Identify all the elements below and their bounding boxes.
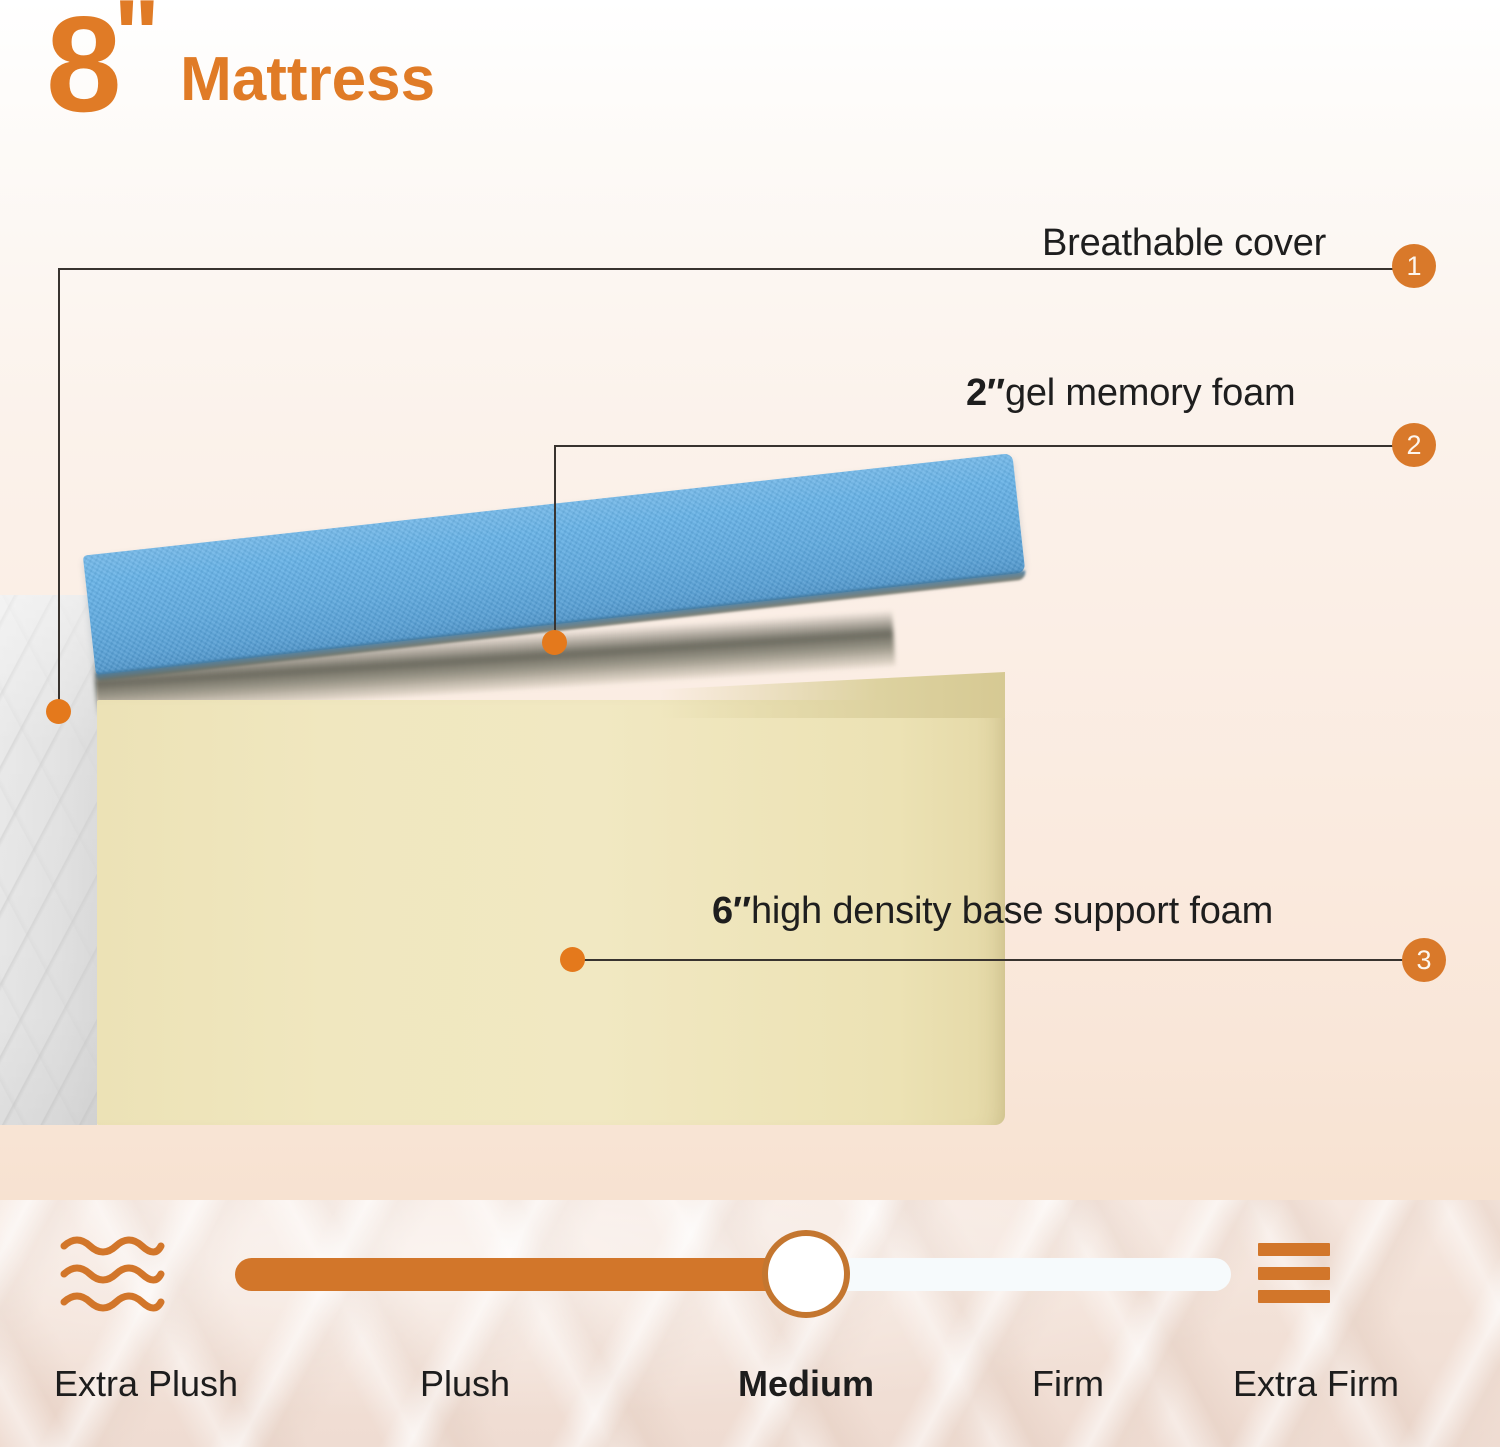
callout-1-badge: 1 (1392, 244, 1436, 288)
callout-3-leader-horizontal (572, 959, 1410, 961)
callout-1-leader-horizontal (58, 268, 1396, 270)
firmness-slider-track-filled[interactable] (235, 1258, 807, 1291)
firmness-label-medium[interactable]: Medium (738, 1363, 874, 1405)
callout-3-badge: 3 (1402, 938, 1446, 982)
callout-1-anchor-dot (46, 699, 71, 724)
product-infographic: 8 " Mattress Breathable cover 1 2″gel me… (0, 0, 1500, 1447)
firmness-selector-band (0, 1200, 1500, 1447)
callout-2-leader-vertical (554, 445, 556, 643)
breathable-cover-fabric (0, 595, 97, 1125)
callout-1-label: Breathable cover (1042, 222, 1326, 265)
firmness-slider-thumb[interactable] (762, 1230, 850, 1318)
callout-3-label-text: high density base support foam (751, 890, 1273, 932)
firmness-label-plush[interactable]: Plush (420, 1363, 510, 1405)
callout-2-leader-horizontal (554, 445, 1400, 447)
wavy-lines-icon (60, 1233, 165, 1315)
firm-bar-2 (1258, 1267, 1330, 1280)
callout-2-label-text: gel memory foam (1005, 372, 1296, 414)
page-title: 8 " Mattress (46, 2, 421, 127)
callout-2-anchor-dot (542, 630, 567, 655)
title-inch-mark: " (114, 0, 160, 83)
firmness-label-firm[interactable]: Firm (1032, 1363, 1104, 1405)
firmness-label-extra-firm[interactable]: Extra Firm (1233, 1363, 1399, 1405)
firmness-slider-track-empty[interactable] (807, 1258, 1231, 1291)
callout-1-leader-vertical (58, 268, 60, 712)
title-thickness-number: 8 (46, 2, 120, 127)
callout-3-label: 6″high density base support foam (712, 890, 1273, 933)
firmness-label-extra-plush[interactable]: Extra Plush (54, 1363, 238, 1405)
mattress-cutaway-scene (0, 0, 1500, 1200)
title-product-word: Mattress (180, 49, 435, 111)
firm-bar-1 (1258, 1243, 1330, 1256)
callout-3-label-measure: 6″ (712, 890, 751, 932)
callout-2-label: 2″gel memory foam (966, 372, 1295, 415)
firm-bar-3 (1258, 1290, 1330, 1303)
callout-2-badge: 2 (1392, 423, 1436, 467)
horizontal-bars-icon (1258, 1243, 1330, 1303)
callout-3-anchor-dot (560, 947, 585, 972)
callout-2-label-measure: 2″ (966, 372, 1005, 414)
